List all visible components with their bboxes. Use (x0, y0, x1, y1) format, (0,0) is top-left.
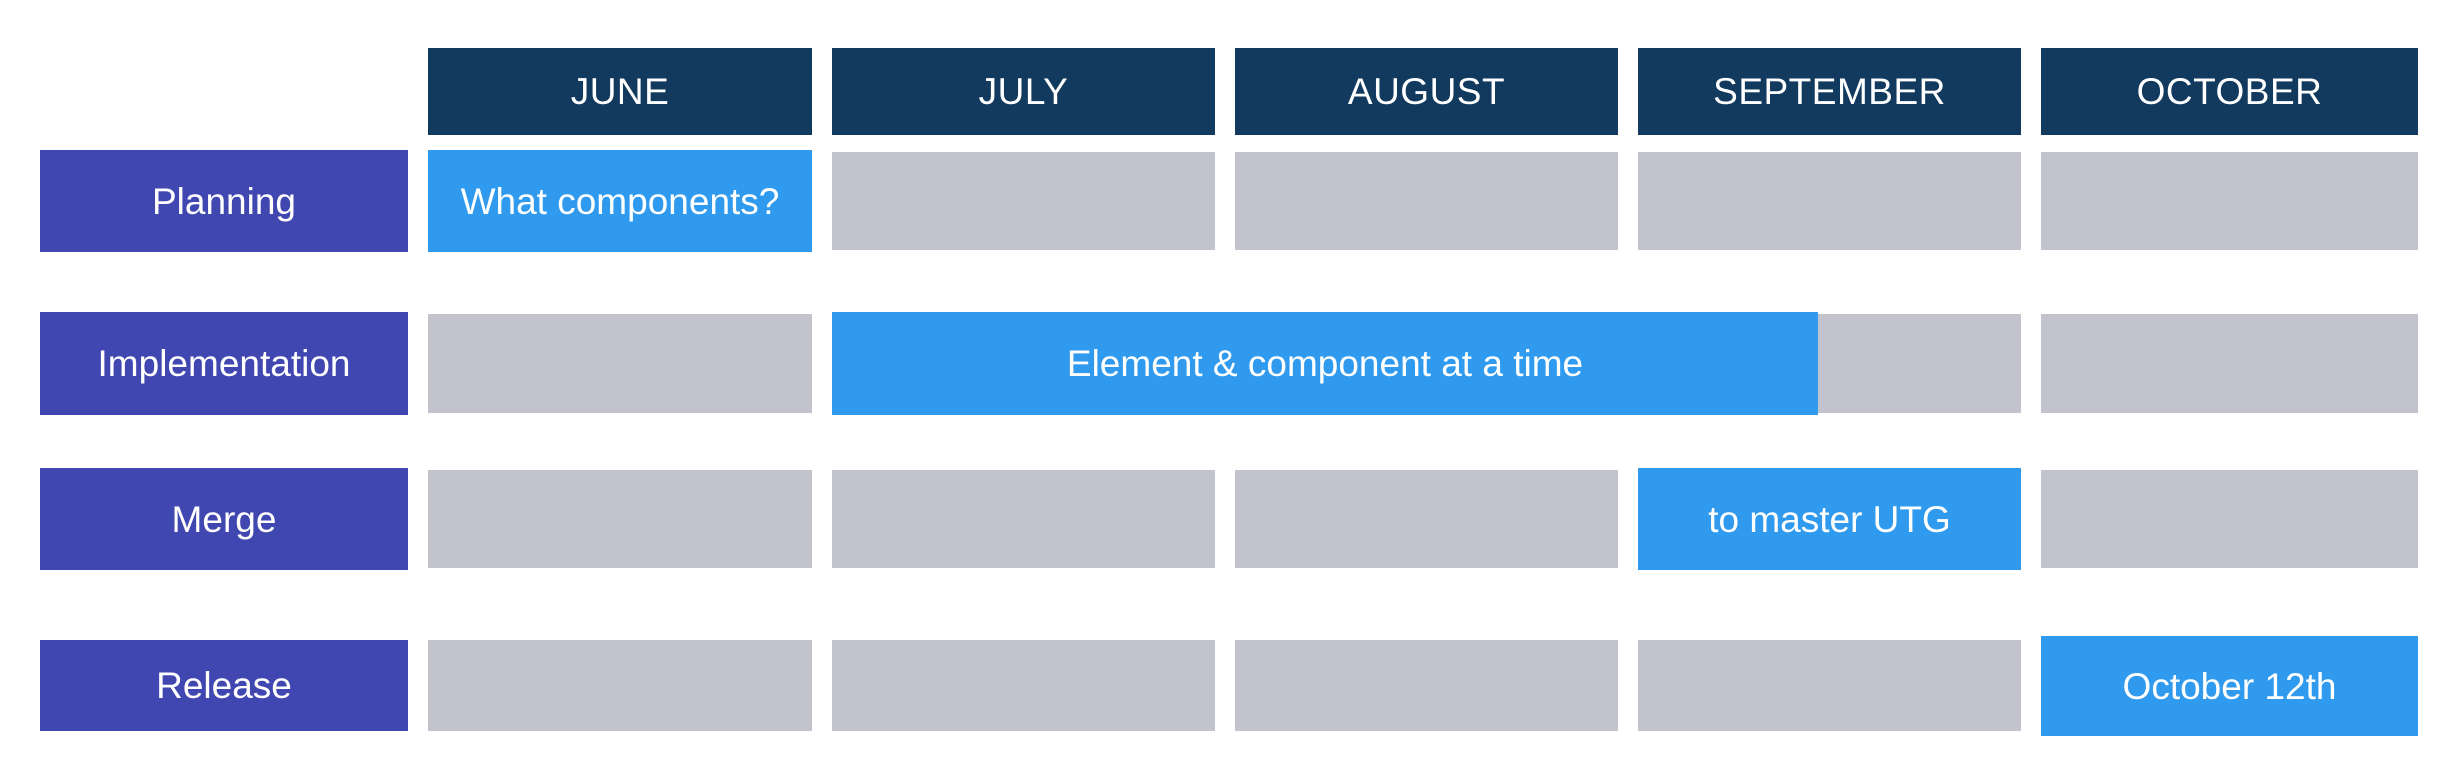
month-header-june[interactable]: JUNE (428, 48, 812, 135)
slot-merge-august[interactable] (1235, 470, 1618, 568)
slot-merge-october[interactable] (2041, 470, 2418, 568)
row-label-merge[interactable]: Merge (40, 468, 408, 570)
slot-planning-july[interactable] (832, 152, 1215, 250)
row-label-implementation[interactable]: Implementation (40, 312, 408, 415)
month-header-october[interactable]: OCTOBER (2041, 48, 2418, 135)
slot-release-june[interactable] (428, 640, 812, 731)
row-label-planning[interactable]: Planning (40, 150, 408, 252)
month-header-august[interactable]: AUGUST (1235, 48, 1618, 135)
row-label-release[interactable]: Release (40, 640, 408, 731)
slot-merge-july[interactable] (832, 470, 1215, 568)
task-bar-planning[interactable]: What components? (428, 150, 812, 252)
slot-planning-october[interactable] (2041, 152, 2418, 250)
slot-release-august[interactable] (1235, 640, 1618, 731)
slot-planning-august[interactable] (1235, 152, 1618, 250)
slot-implementation-june[interactable] (428, 314, 812, 413)
gantt-chart: JUNE JULY AUGUST SEPTEMBER OCTOBER Plann… (0, 0, 2462, 768)
slot-release-july[interactable] (832, 640, 1215, 731)
task-bar-release[interactable]: October 12th (2041, 636, 2418, 736)
slot-implementation-october[interactable] (2041, 314, 2418, 413)
slot-merge-june[interactable] (428, 470, 812, 568)
task-bar-implementation[interactable]: Element & component at a time (832, 312, 1818, 415)
slot-release-september[interactable] (1638, 640, 2021, 731)
month-header-july[interactable]: JULY (832, 48, 1215, 135)
task-bar-merge[interactable]: to master UTG (1638, 468, 2021, 570)
slot-planning-september[interactable] (1638, 152, 2021, 250)
month-header-september[interactable]: SEPTEMBER (1638, 48, 2021, 135)
